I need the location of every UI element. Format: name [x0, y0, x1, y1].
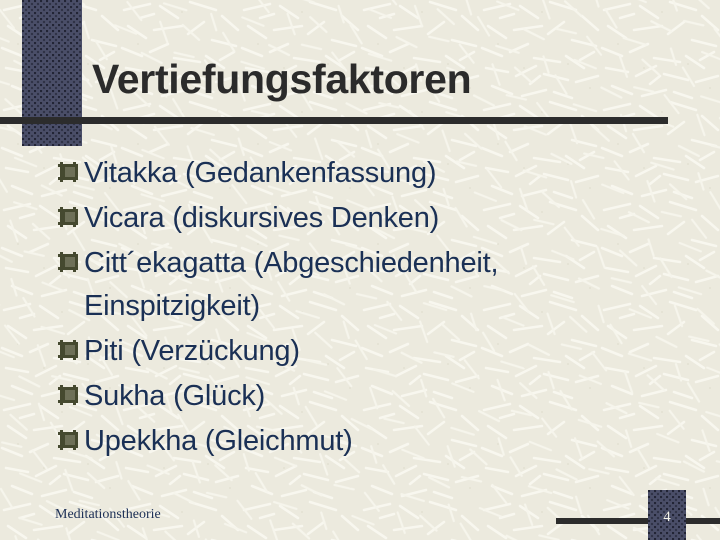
header-accent-bar — [22, 0, 82, 146]
list-item-label: Piti (Verzückung) — [84, 330, 678, 373]
list-item-label: Citt´ekagatta (Abgeschiedenheit, Einspit… — [84, 242, 678, 328]
square-bullet-icon — [58, 385, 84, 415]
footer-label: Meditationstheorie — [55, 507, 161, 523]
list-item: Vitakka (Gedankenfassung) — [58, 152, 678, 195]
list-item: Citt´ekagatta (Abgeschiedenheit, Einspit… — [58, 242, 678, 328]
list-item: Sukha (Glück) — [58, 375, 678, 418]
list-item-label: Upekkha (Gleichmut) — [84, 420, 678, 463]
footer-rule-left — [556, 518, 648, 524]
presentation-slide: Vertiefungsfaktoren Vitakka (Gedankenfas… — [0, 0, 720, 540]
square-bullet-icon — [58, 252, 84, 282]
square-bullet-icon — [58, 207, 84, 237]
list-item: Upekkha (Gleichmut) — [58, 420, 678, 463]
list-item-label: Vicara (diskursives Denken) — [84, 197, 678, 240]
page-number: 4 — [648, 509, 686, 526]
list-item: Vicara (diskursives Denken) — [58, 197, 678, 240]
square-bullet-icon — [58, 430, 84, 460]
header-divider-rule — [0, 117, 668, 124]
list-item-label: Sukha (Glück) — [84, 375, 678, 418]
list-item-label: Vitakka (Gedankenfassung) — [84, 152, 678, 195]
square-bullet-icon — [58, 162, 84, 192]
slide-title: Vertiefungsfaktoren — [92, 54, 692, 104]
square-bullet-icon — [58, 340, 84, 370]
bullet-list: Vitakka (Gedankenfassung) Vicara (diskur… — [58, 152, 678, 465]
footer-rule-right — [686, 518, 720, 524]
list-item: Piti (Verzückung) — [58, 330, 678, 373]
